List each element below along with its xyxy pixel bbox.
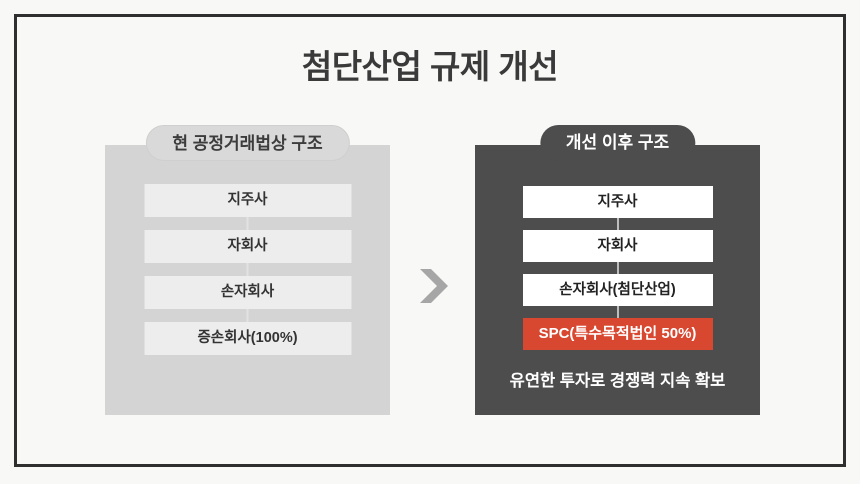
- panel-header-current: 현 공정거래법상 구조: [145, 125, 349, 161]
- panel-current-structure: 현 공정거래법상 구조 지주사 자회사 손자회사 증손회사(100%): [105, 145, 390, 415]
- panel-improved-structure: 개선 이후 구조 지주사 자회사 손자회사(첨단산업) SPC(특수목적법인 5…: [475, 145, 760, 415]
- node-stack-improved: 지주사 자회사 손자회사(첨단산업) SPC(특수목적법인 50%): [523, 186, 713, 362]
- node-grandchild-company-advanced-industry: 손자회사(첨단산업): [523, 274, 713, 306]
- node-grandchild-company: 손자회사: [144, 276, 351, 309]
- node-subsidiary-new: 자회사: [523, 230, 713, 262]
- slide-canvas: 첨단산업 규제 개선 현 공정거래법상 구조 지주사 자회사 손자회사 증손회사…: [0, 0, 860, 484]
- node-spc-special-purpose-company: SPC(특수목적법인 50%): [523, 318, 713, 350]
- node-holding-company-new: 지주사: [523, 186, 713, 218]
- node-subsidiary: 자회사: [144, 230, 351, 263]
- panel-header-improved: 개선 이후 구조: [540, 125, 695, 161]
- chevron-right-icon: [411, 265, 457, 307]
- node-holding-company: 지주사: [144, 184, 351, 217]
- panel-caption-improved: 유연한 투자로 경쟁력 지속 확보: [475, 367, 760, 391]
- node-stack-current: 지주사 자회사 손자회사 증손회사(100%): [144, 184, 351, 355]
- page-title: 첨단산업 규제 개선: [0, 40, 860, 88]
- node-great-grandchild-company: 증손회사(100%): [144, 322, 351, 355]
